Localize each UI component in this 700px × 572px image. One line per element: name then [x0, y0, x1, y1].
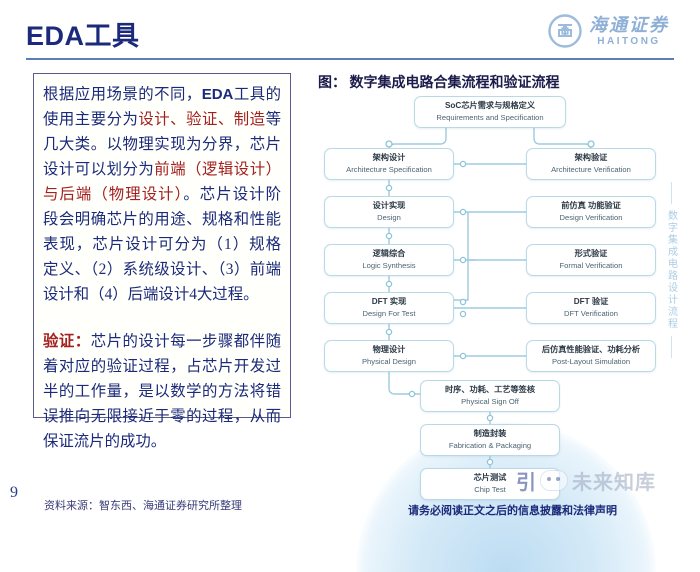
- flow-node-label-en: Architecture Specification: [346, 165, 432, 175]
- flow-node-label-en: Requirements and Specification: [436, 113, 543, 123]
- flow-node-post-layout: 后仿真性能验证、功耗分析Post-Layout Simulation: [526, 340, 656, 372]
- flow-node-label-en: DFT Verification: [564, 309, 618, 319]
- title-divider: [26, 58, 674, 60]
- flow-node-label-cn: 形式验证: [575, 249, 608, 259]
- flow-node-label-en: Post-Layout Simulation: [552, 357, 630, 367]
- flow-node-arch-design: 架构设计Architecture Specification: [324, 148, 454, 180]
- flow-node-logic-synth: 逻辑综合Logic Synthesis: [324, 244, 454, 276]
- flow-node-label-cn: 制造封装: [474, 429, 507, 439]
- flow-node-dft-impl: DFT 实现Design For Test: [324, 292, 454, 324]
- figure-side-label: 数字集成电路设计流程: [662, 175, 680, 365]
- flow-node-physical-signoff: 时序、功耗、工艺等签核Physical Sign Off: [420, 380, 560, 412]
- flowchart: SoC芯片需求与规格定义Requirements and Specificati…: [316, 92, 662, 490]
- page-number: 9: [10, 484, 18, 502]
- disclaimer-note: 请务必阅读正文之后的信息披露和法律声明: [408, 502, 617, 518]
- side-label-text: 数字集成电路设计流程: [664, 210, 679, 330]
- flow-node-label-cn: 逻辑综合: [373, 249, 406, 259]
- flow-node-soc-spec: SoC芯片需求与规格定义Requirements and Specificati…: [414, 96, 566, 128]
- flow-node-label-cn: 后仿真性能验证、功耗分析: [542, 345, 640, 355]
- paragraph-verification: 验证：芯片的设计每一步骤都伴随着对应的验证过程，占芯片开发过半的工作量，是以数学…: [43, 329, 281, 454]
- flow-node-label-en: Logic Synthesis: [362, 261, 415, 271]
- brand-wordmark: 海通证券 HAITONG: [589, 16, 669, 47]
- page-title: EDA工具: [26, 14, 140, 53]
- paragraph-verification-text: 芯片的设计每一步骤都伴随着对应的验证过程，占芯片开发过半的工作量，是以数学的方法…: [43, 333, 281, 450]
- paragraph-segment-0: 根据应用场景的不同，: [43, 86, 202, 103]
- flow-node-label-en: Chip Test: [474, 485, 506, 495]
- flow-node-physical-design: 物理设计Physical Design: [324, 340, 454, 372]
- paragraph-segment-3: 设计、验证、制造: [138, 111, 265, 128]
- flow-node-chip-test: 芯片测试Chip Test: [420, 468, 560, 500]
- flow-node-label-en: Formal Verification: [560, 261, 623, 271]
- flow-node-design-impl: 设计实现Design: [324, 196, 454, 228]
- paragraph-eda-overview: 根据应用场景的不同，EDA工具的使用主要分为设计、验证、制造等几大类。以物理实现…: [43, 82, 281, 307]
- flow-node-label-cn: 架构验证: [575, 153, 608, 163]
- brand-name-cn: 海通证券: [589, 16, 669, 34]
- brand-logo: 海通证券 HAITONG: [548, 14, 669, 48]
- figure-caption: 图： 数字集成电路合集流程和验证流程: [318, 72, 560, 92]
- paragraph-segment-6: 。芯片设计阶段会明确芯片的用途、规格和性能表现，芯片设计可分为（1）规格定义、（…: [43, 186, 281, 303]
- flow-node-label-cn: SoC芯片需求与规格定义: [445, 101, 535, 111]
- brand-name-en: HAITONG: [597, 37, 660, 47]
- flow-node-fabrication: 制造封装Fabrication & Packaging: [420, 424, 560, 456]
- flow-node-label-cn: 时序、功耗、工艺等签核: [445, 385, 535, 395]
- flow-node-label-en: Fabrication & Packaging: [449, 441, 531, 451]
- flow-node-design-verify: 前仿真 功能验证Design Verification: [526, 196, 656, 228]
- flow-node-label-en: Physical Design: [362, 357, 416, 367]
- side-label-rule-bottom: [671, 336, 672, 358]
- flow-node-label-en: Physical Sign Off: [461, 397, 519, 407]
- haitong-knot-logo-icon: [548, 14, 582, 48]
- flow-node-label-en: Design Verification: [560, 213, 623, 223]
- flow-node-label-cn: DFT 验证: [574, 297, 609, 307]
- flow-node-label-cn: 芯片测试: [474, 473, 507, 483]
- flow-node-formal-verify: 形式验证Formal Verification: [526, 244, 656, 276]
- flow-node-label-en: Design: [377, 213, 401, 223]
- flow-node-label-cn: DFT 实现: [372, 297, 407, 307]
- flow-node-arch-verify: 架构验证Architecture Verification: [526, 148, 656, 180]
- flow-node-label-en: Architecture Verification: [551, 165, 631, 175]
- side-label-rule-top: [671, 182, 672, 204]
- body-textbox: 根据应用场景的不同，EDA工具的使用主要分为设计、验证、制造等几大类。以物理实现…: [33, 73, 291, 418]
- source-note: 资料来源：智东西、海通证券研究所整理: [44, 497, 242, 513]
- flow-node-label-en: Design For Test: [362, 309, 415, 319]
- paragraph-verification-lead: 验证：: [43, 333, 91, 350]
- flow-node-label-cn: 设计实现: [373, 201, 406, 211]
- flow-node-dft-verify: DFT 验证DFT Verification: [526, 292, 656, 324]
- flow-node-label-cn: 前仿真 功能验证: [561, 201, 621, 211]
- flow-node-label-cn: 架构设计: [373, 153, 406, 163]
- flow-node-label-cn: 物理设计: [373, 345, 406, 355]
- paragraph-segment-1: EDA: [202, 86, 234, 103]
